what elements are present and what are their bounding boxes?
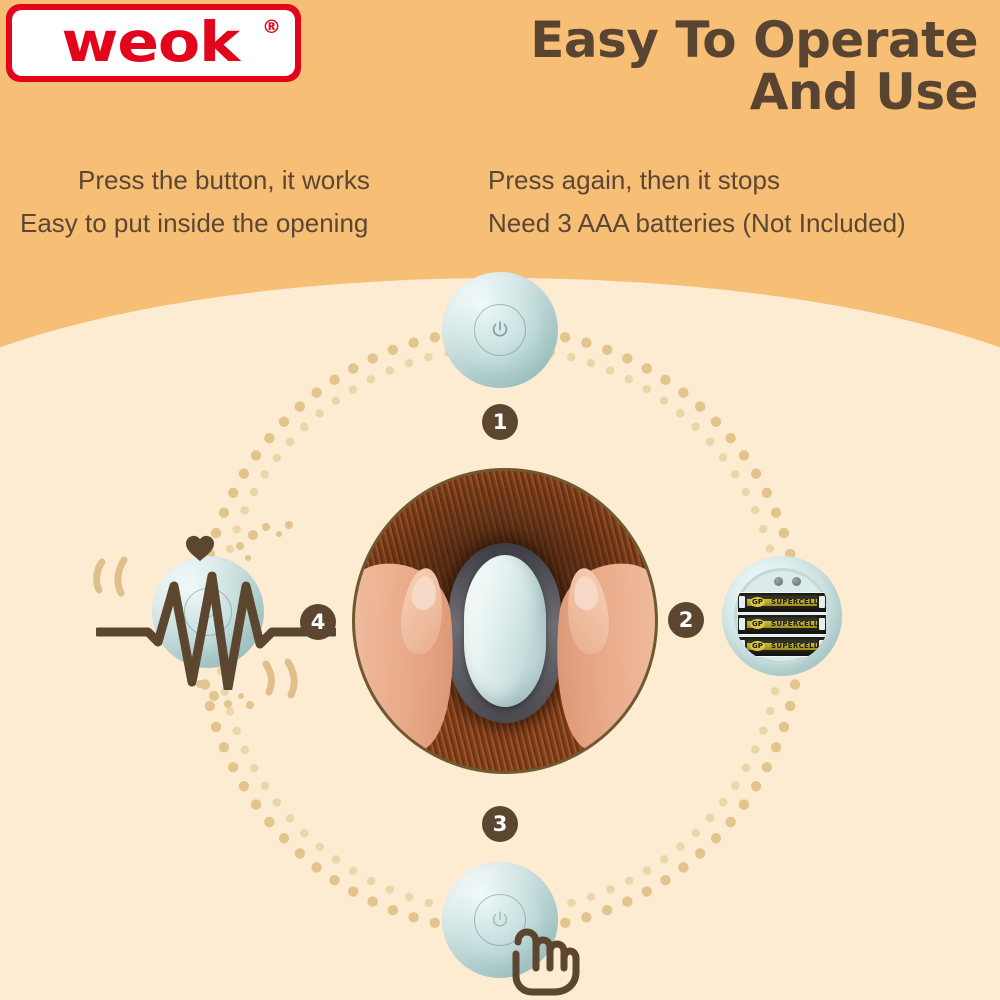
- feature-text-batteries: Need 3 AAA batteries (Not Included): [488, 208, 906, 239]
- page-title-line1: Easy To Operate: [358, 14, 978, 66]
- vibration-arcs-right-icon: [250, 650, 310, 708]
- battery-brand-text: SUPERCELL: [771, 597, 819, 607]
- thumbnail: [410, 575, 437, 611]
- infographic-canvas: weok ® Easy To Operate And Use Press the…: [0, 0, 1000, 1000]
- battery-gp-logo: GP: [750, 597, 765, 607]
- battery-terminal: [739, 618, 745, 630]
- battery-slot-1: GP SUPERCELL: [738, 592, 826, 613]
- battery-aaa-2: GP SUPERCELL: [747, 617, 817, 632]
- battery-compartment-step2: GP SUPERCELL GP SUPERCELL GP: [722, 556, 842, 676]
- battery-aaa-3: GP SUPERCELL: [747, 639, 817, 654]
- screw-icon-top-left: [774, 577, 783, 586]
- page-title-line2: And Use: [358, 66, 978, 118]
- pointing-hand-icon: [492, 892, 584, 996]
- battery-brand-text: SUPERCELL: [771, 619, 819, 629]
- screw-icon-top-right: [792, 577, 801, 586]
- thumbnail: [572, 575, 599, 611]
- insert-device-photo: [352, 468, 658, 774]
- vibration-arcs-left-icon: [92, 552, 152, 610]
- battery-gp-logo: GP: [750, 641, 765, 651]
- device-egg-in-opening: [464, 555, 546, 707]
- power-glyph: [489, 319, 511, 341]
- battery-brand-text: SUPERCELL: [771, 641, 819, 651]
- brand-logo-plate: weok ®: [12, 10, 295, 76]
- battery-terminal: [739, 596, 745, 608]
- battery-terminal: [819, 618, 825, 630]
- battery-aaa-1: GP SUPERCELL: [747, 595, 817, 610]
- feature-text-press-again: Press again, then it stops: [488, 165, 780, 196]
- page-title: Easy To Operate And Use: [358, 14, 978, 118]
- registered-trademark-icon: ®: [262, 16, 281, 38]
- battery-terminal: [819, 640, 825, 652]
- battery-slot-2: GP SUPERCELL: [738, 614, 826, 635]
- battery-gp-logo: GP: [750, 619, 765, 629]
- sparkle-dots-top-icon: [232, 520, 296, 566]
- step-badge-3: 3: [482, 806, 518, 842]
- brand-logo-text: weok: [62, 15, 240, 70]
- battery-terminal: [819, 596, 825, 608]
- step-badge-1: 1: [482, 404, 518, 440]
- feature-text-put-inside: Easy to put inside the opening: [20, 208, 368, 239]
- battery-terminal: [739, 640, 745, 652]
- device-ball-step1: [442, 272, 558, 388]
- battery-slot-3: GP SUPERCELL: [738, 636, 826, 657]
- brand-logo: weok ®: [6, 4, 301, 82]
- heart-icon: [185, 534, 215, 562]
- sparkle-dots-bottom-icon: [190, 672, 254, 712]
- step-badge-2: 2: [668, 602, 704, 638]
- power-button-icon[interactable]: [474, 304, 526, 356]
- step-badge-4: 4: [300, 604, 336, 640]
- feature-text-press-button: Press the button, it works: [78, 165, 370, 196]
- battery-compartment-inner: GP SUPERCELL GP SUPERCELL GP: [734, 568, 830, 664]
